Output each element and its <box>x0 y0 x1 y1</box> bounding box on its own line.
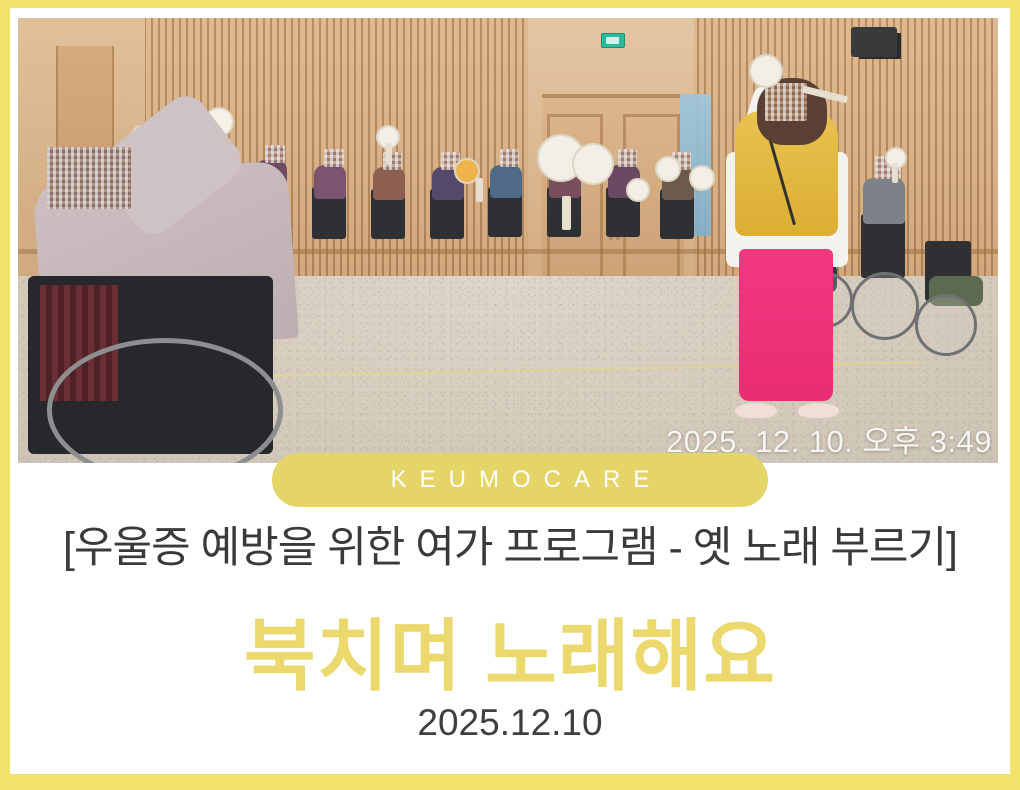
blurred-face <box>500 149 519 167</box>
blurred-face <box>47 147 131 209</box>
blurred-face <box>618 149 637 167</box>
event-date: 2025.12.10 <box>10 702 1010 744</box>
badge-label: KEUMOCARE <box>378 466 663 494</box>
leader-pink-pants <box>739 249 833 400</box>
keumocare-badge: KEUMOCARE <box>272 453 768 507</box>
participant-body <box>490 165 522 198</box>
drum-stick <box>562 196 571 230</box>
hand-drum <box>749 54 783 88</box>
hand-drum <box>689 165 715 191</box>
drum-stick <box>386 143 392 165</box>
hand-drum <box>655 156 681 182</box>
blurred-face <box>765 83 807 121</box>
wheelchair-wheel <box>851 272 919 340</box>
participant-body <box>314 165 346 199</box>
blurred-face <box>324 149 344 167</box>
wall-speaker-icon <box>851 27 897 57</box>
yellow-border-frame: 2025. 12. 10. 오후 3:49 KEUMOCARE [우울증 예방을… <box>0 0 1020 790</box>
hand-drum <box>626 178 650 202</box>
participant-body <box>863 178 905 224</box>
wheelchair-wheel <box>915 294 977 356</box>
exit-sign-icon <box>601 33 625 48</box>
participant-body <box>373 167 405 200</box>
page-title: 북치며 노래해요 <box>10 594 1010 706</box>
drum-stick <box>476 178 483 202</box>
drum-stick <box>892 163 898 183</box>
photo-scene: 2025. 12. 10. 오후 3:49 <box>18 18 998 463</box>
program-subtitle: [우울증 예방을 위한 여가 프로그램 - 옛 노래 부르기] <box>10 513 1010 575</box>
hand-drum <box>572 143 614 185</box>
activity-photo: 2025. 12. 10. 오후 3:49 <box>18 18 998 463</box>
blurred-face <box>265 145 285 163</box>
content-card: 2025. 12. 10. 오후 3:49 KEUMOCARE [우울증 예방을… <box>10 8 1010 774</box>
